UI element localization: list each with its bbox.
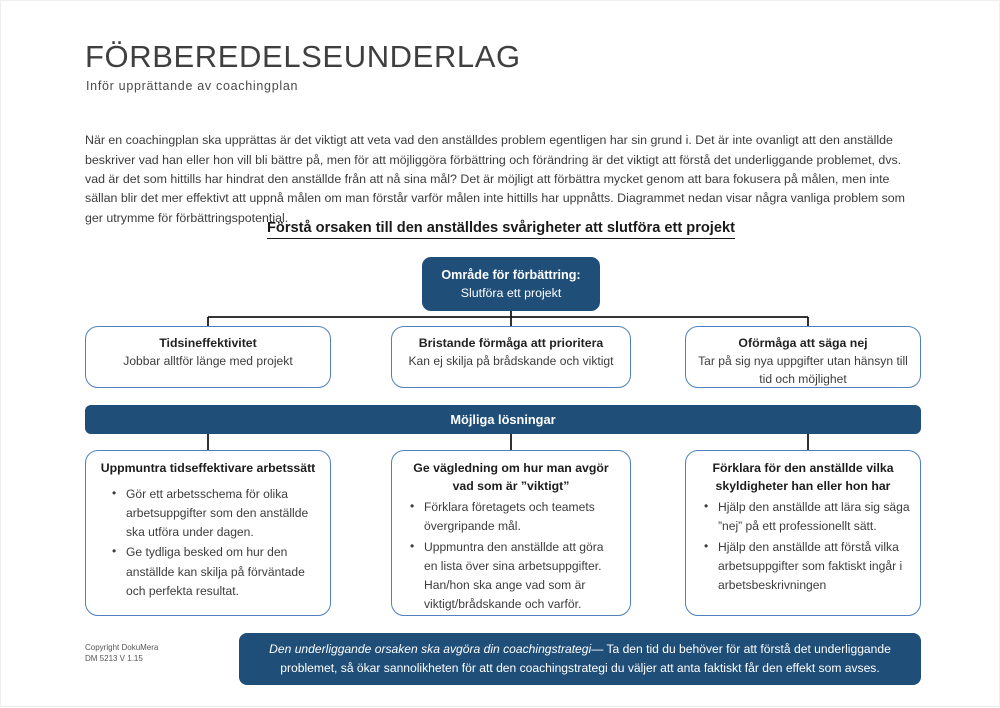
- problem-box: Oförmåga att säga nej Tar på sig nya upp…: [685, 326, 921, 388]
- solutions-banner-label: Möjliga lösningar: [450, 412, 555, 427]
- problem-box: Bristande förmåga att prioritera Kan ej …: [391, 326, 631, 388]
- footer-callout-text: Den underliggande orsaken ska avgöra din…: [261, 640, 899, 679]
- solution-bullet: Förklara företagets och teamets övergrip…: [424, 498, 620, 537]
- solution-bullet-list: Gör ett arbetsschema för olika arbetsupp…: [96, 485, 320, 602]
- copyright-block: Copyright DokuMera DM 5213 V 1.15: [85, 642, 158, 664]
- solution-bullet-list: Förklara företagets och teamets övergrip…: [402, 498, 620, 615]
- problem-title: Bristande förmåga att prioritera: [392, 335, 630, 352]
- problem-title: Oförmåga att säga nej: [686, 335, 920, 352]
- solution-bullet: Hjälp den anställde att förstå vilka arb…: [718, 538, 910, 596]
- footer-callout-banner: Den underliggande orsaken ska avgöra din…: [239, 633, 921, 685]
- footer-callout-emphasis: Den underliggande orsaken ska avgöra din…: [269, 642, 591, 656]
- problem-title: Tidsineffektivitet: [86, 335, 330, 352]
- solution-bullet-list: Hjälp den anställde att lära sig säga ”n…: [696, 498, 910, 595]
- problem-box: Tidsineffektivitet Jobbar alltför länge …: [85, 326, 331, 388]
- problem-description: Jobbar alltför länge med projekt: [86, 352, 330, 370]
- problem-description: Tar på sig nya uppgifter utan hänsyn til…: [686, 352, 920, 388]
- solution-bullet: Uppmuntra den anställde att göra en list…: [424, 538, 620, 615]
- improvement-area-title: Område för förbättring:: [441, 266, 580, 284]
- solution-box: Ge vägledning om hur man avgör vad som ä…: [391, 450, 631, 616]
- solutions-banner: Möjliga lösningar: [85, 405, 921, 434]
- solution-box: Uppmuntra tidseffektivare arbetssätt Gör…: [85, 450, 331, 616]
- solution-bullet: Ge tydliga besked om hur den anställde k…: [126, 543, 320, 601]
- solution-bullet: Hjälp den anställde att lära sig säga ”n…: [718, 498, 910, 537]
- solution-title: Förklara för den anställde vilka skyldig…: [696, 460, 910, 495]
- solution-bullet: Gör ett arbetsschema för olika arbetsupp…: [126, 485, 320, 543]
- org-chart-diagram: Område för förbättring: Slutföra ett pro…: [1, 1, 1000, 708]
- document-page: FÖRBEREDELSEUNDERLAG Inför upprättande a…: [0, 0, 1000, 707]
- improvement-area-box: Område för förbättring: Slutföra ett pro…: [422, 257, 600, 311]
- problem-description: Kan ej skilja på brådskande och viktigt: [392, 352, 630, 370]
- copyright-line-1: Copyright DokuMera: [85, 642, 158, 653]
- solution-box: Förklara för den anställde vilka skyldig…: [685, 450, 921, 616]
- solution-title: Uppmuntra tidseffektivare arbetssätt: [96, 460, 320, 478]
- improvement-area-subtitle: Slutföra ett projekt: [461, 284, 562, 303]
- solution-title: Ge vägledning om hur man avgör vad som ä…: [402, 460, 620, 495]
- copyright-line-2: DM 5213 V 1.15: [85, 653, 158, 664]
